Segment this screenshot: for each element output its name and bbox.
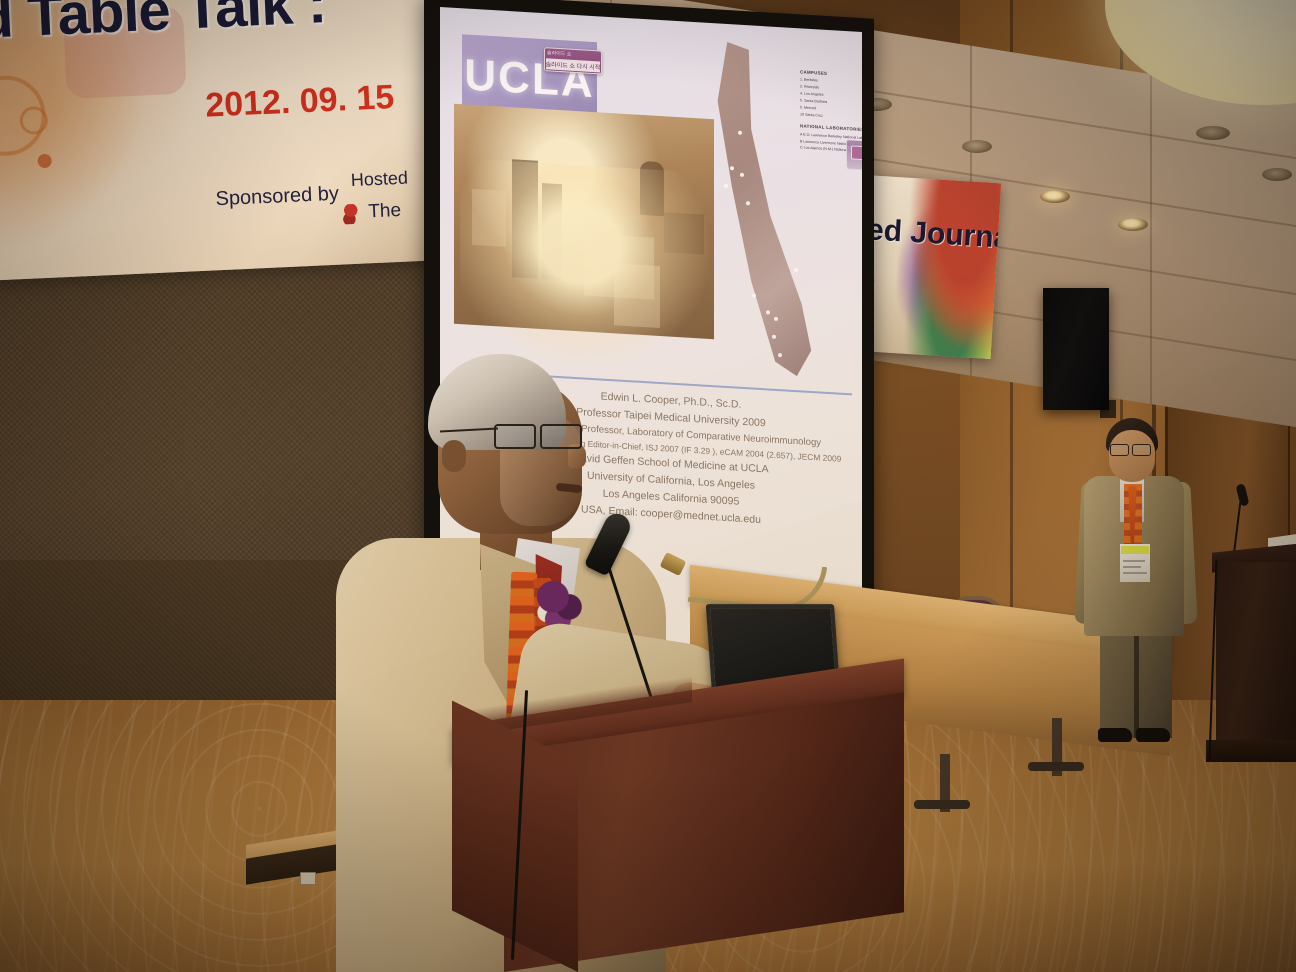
- ear: [442, 440, 466, 472]
- table-caster: [914, 800, 970, 809]
- head: [1109, 430, 1155, 482]
- wall-loudspeaker: [1043, 288, 1109, 410]
- recessed-downlight: [962, 140, 992, 153]
- california-relief-map: CAMPUSES 1. Berkeley 2. Riverside 4. Los…: [708, 41, 862, 391]
- shoe-left: [1098, 728, 1132, 742]
- recessed-downlight: [1040, 190, 1070, 203]
- eyeglasses: [1110, 444, 1154, 455]
- tooltip-body-text[interactable]: 슬라이드 쇼 다시 시작: [546, 58, 600, 72]
- table-caster: [1028, 762, 1084, 771]
- second-lectern-base: [1206, 740, 1296, 762]
- ucla-campus-aerial-photo: [454, 104, 714, 339]
- banner-color-splash: [892, 173, 1001, 359]
- banner-decoration-circle: [19, 106, 48, 135]
- wall-power-outlet: [300, 872, 316, 885]
- eyeglasses: [494, 424, 586, 446]
- second-lectern[interactable]: [1216, 562, 1296, 752]
- banner-hosted-org: The: [368, 200, 402, 223]
- event-banner-main: und Table Talk : 2012. 09. 15 Sponsored …: [0, 0, 487, 282]
- conference-room-scene: und Table Talk : 2012. 09. 15 Sponsored …: [0, 0, 1296, 972]
- recessed-downlight: [1196, 126, 1230, 140]
- standing-man: [1078, 418, 1198, 748]
- banner-title: und Table Talk :: [0, 0, 430, 55]
- leg-separation: [1134, 634, 1139, 738]
- powerpoint-slideshow-tooltip[interactable]: 슬라이드 쇼 슬라이드 쇼 다시 시작: [544, 47, 602, 74]
- name-badge: [1120, 544, 1150, 582]
- shoe-right: [1136, 728, 1170, 742]
- powerpoint-presenter-overlay[interactable]: 발표자 보기: [846, 139, 862, 172]
- banner-decoration-dot: [37, 154, 52, 169]
- banner-sponsored-label: Sponsored by: [215, 183, 339, 212]
- presentation-icon: [851, 145, 862, 160]
- recessed-downlight: [1262, 168, 1292, 181]
- sponsor-logo-icon: [342, 204, 360, 225]
- recessed-downlight: [1118, 218, 1148, 231]
- banner-hosted-label: Hosted: [350, 168, 408, 192]
